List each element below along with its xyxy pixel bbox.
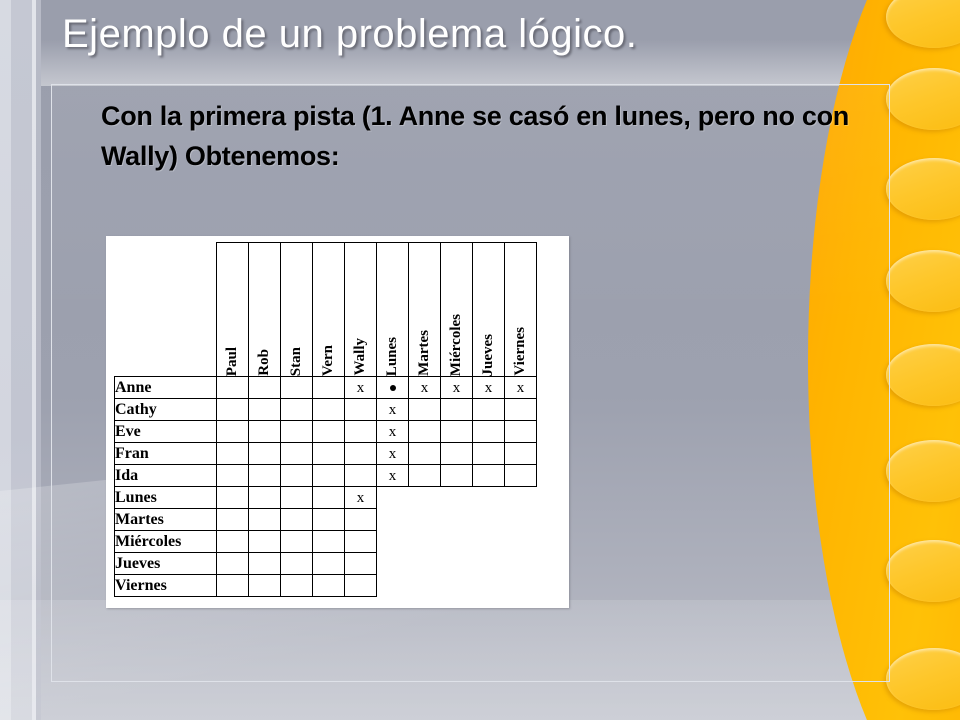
- grid-cell-absent: [473, 509, 505, 531]
- grid-column-header-label: Martes: [409, 327, 440, 376]
- grid-cell[interactable]: [313, 553, 345, 575]
- grid-cell[interactable]: [249, 421, 281, 443]
- grid-cell[interactable]: [281, 487, 313, 509]
- grid-cell[interactable]: [217, 531, 249, 553]
- grid-row: Miércoles: [115, 531, 537, 553]
- grid-cell-absent: [473, 487, 505, 509]
- grid-cell[interactable]: [473, 399, 505, 421]
- grid-cell-absent: [505, 553, 537, 575]
- grid-cell[interactable]: [313, 443, 345, 465]
- grid-column-header: Lunes: [377, 243, 409, 377]
- slide-body-text: Con la primera pista (1. Anne se casó en…: [101, 96, 871, 176]
- grid-cell[interactable]: [441, 399, 473, 421]
- grid-cell-absent: [505, 509, 537, 531]
- grid-cell-absent: [441, 553, 473, 575]
- grid-cell-absent: [473, 575, 505, 597]
- grid-cell[interactable]: x: [505, 377, 537, 399]
- grid-cell-absent: [441, 487, 473, 509]
- grid-cell[interactable]: [345, 421, 377, 443]
- grid-row-label: Eve: [115, 421, 217, 443]
- grid-cell[interactable]: [313, 509, 345, 531]
- grid-column-header: Martes: [409, 243, 441, 377]
- grid-row-label: Cathy: [115, 399, 217, 421]
- grid-column-header: Wally: [345, 243, 377, 377]
- grid-cell-absent: [505, 575, 537, 597]
- grid-cell-absent: [505, 487, 537, 509]
- grid-cell[interactable]: x: [377, 443, 409, 465]
- grid-cell-absent: [441, 509, 473, 531]
- grid-cell[interactable]: x: [345, 487, 377, 509]
- grid-cell[interactable]: [249, 553, 281, 575]
- grid-cell[interactable]: [313, 421, 345, 443]
- grid-cell[interactable]: [409, 421, 441, 443]
- grid-column-header-label: Lunes: [377, 334, 408, 376]
- grid-column-header-label: Rob: [249, 346, 280, 376]
- grid-row: Jueves: [115, 553, 537, 575]
- grid-cell[interactable]: [377, 377, 409, 399]
- grid-row-label: Fran: [115, 443, 217, 465]
- grid-cell[interactable]: x: [377, 465, 409, 487]
- grid-cell-absent: [409, 487, 441, 509]
- grid-row: Franx: [115, 443, 537, 465]
- grid-cell[interactable]: [217, 487, 249, 509]
- grid-cell[interactable]: [313, 465, 345, 487]
- grid-column-header: Miércoles: [441, 243, 473, 377]
- grid-cell[interactable]: [281, 421, 313, 443]
- slide-canvas: Ejemplo de un problema lógico. Con la pr…: [0, 0, 960, 720]
- left-band-1: [0, 0, 11, 720]
- grid-cell[interactable]: [313, 531, 345, 553]
- grid-column-header-label: Viernes: [505, 324, 536, 376]
- grid-cell[interactable]: [505, 465, 537, 487]
- grid-cell[interactable]: x: [409, 377, 441, 399]
- grid-cell[interactable]: [313, 377, 345, 399]
- grid-cell[interactable]: [345, 531, 377, 553]
- grid-cell[interactable]: [217, 575, 249, 597]
- content-frame: Con la primera pista (1. Anne se casó en…: [51, 84, 890, 682]
- grid-cell[interactable]: [345, 553, 377, 575]
- grid-cell-absent: [377, 553, 409, 575]
- grid-row: Evex: [115, 421, 537, 443]
- grid-cell-absent: [409, 509, 441, 531]
- grid-column-header-label: Jueves: [473, 331, 504, 377]
- left-band-4: [36, 0, 41, 720]
- grid-cell-absent: [473, 553, 505, 575]
- grid-cell[interactable]: [345, 399, 377, 421]
- grid-row: Cathyx: [115, 399, 537, 421]
- logic-grid-table: PaulRobStanVernWallyLunesMartesMiércoles…: [114, 242, 537, 597]
- grid-cell[interactable]: [505, 421, 537, 443]
- grid-cell[interactable]: x: [473, 377, 505, 399]
- grid-column-header: Viernes: [505, 243, 537, 377]
- grid-cell[interactable]: [441, 465, 473, 487]
- grid-cell[interactable]: [217, 553, 249, 575]
- grid-cell[interactable]: x: [441, 377, 473, 399]
- grid-cell[interactable]: [249, 377, 281, 399]
- grid-cell[interactable]: [409, 465, 441, 487]
- grid-column-header-label: Wally: [345, 335, 376, 376]
- grid-row: Annexxxxx: [115, 377, 537, 399]
- grid-corner-cell: [115, 243, 217, 377]
- grid-cell[interactable]: [313, 487, 345, 509]
- grid-column-header-label: Paul: [217, 344, 248, 376]
- grid-cell[interactable]: [313, 575, 345, 597]
- grid-cell-absent: [441, 531, 473, 553]
- grid-cell-absent: [441, 575, 473, 597]
- grid-row: Martes: [115, 509, 537, 531]
- grid-cell[interactable]: [409, 443, 441, 465]
- grid-cell[interactable]: [281, 377, 313, 399]
- grid-cell[interactable]: [345, 443, 377, 465]
- grid-cell[interactable]: [249, 531, 281, 553]
- grid-cell[interactable]: [217, 399, 249, 421]
- grid-cell[interactable]: [345, 465, 377, 487]
- left-band-2: [11, 0, 32, 720]
- grid-column-header-label: Miércoles: [441, 311, 472, 376]
- grid-column-header: Stan: [281, 243, 313, 377]
- grid-cell[interactable]: [281, 465, 313, 487]
- grid-cell-absent: [409, 553, 441, 575]
- grid-cell[interactable]: [281, 399, 313, 421]
- grid-column-header: Paul: [217, 243, 249, 377]
- grid-cell-absent: [377, 531, 409, 553]
- grid-cell[interactable]: x: [377, 421, 409, 443]
- grid-cell[interactable]: [281, 553, 313, 575]
- grid-cell[interactable]: [345, 509, 377, 531]
- grid-column-header: Vern: [313, 243, 345, 377]
- grid-cell[interactable]: [249, 575, 281, 597]
- grid-cell[interactable]: [409, 399, 441, 421]
- grid-cell[interactable]: [505, 443, 537, 465]
- grid-cell[interactable]: [249, 443, 281, 465]
- grid-cell-absent: [473, 531, 505, 553]
- grid-row-label: Lunes: [115, 487, 217, 509]
- grid-cell[interactable]: [281, 443, 313, 465]
- grid-row-label: Anne: [115, 377, 217, 399]
- grid-cell[interactable]: [313, 399, 345, 421]
- grid-cell-absent: [505, 531, 537, 553]
- grid-cell[interactable]: x: [377, 399, 409, 421]
- grid-cell[interactable]: [281, 531, 313, 553]
- grid-cell[interactable]: [505, 399, 537, 421]
- grid-row-label: Viernes: [115, 575, 217, 597]
- grid-cell-absent: [377, 509, 409, 531]
- grid-cell[interactable]: [473, 421, 505, 443]
- grid-cell-absent: [409, 531, 441, 553]
- grid-column-header-label: Stan: [281, 344, 312, 376]
- grid-cell[interactable]: [345, 575, 377, 597]
- grid-row-label: Jueves: [115, 553, 217, 575]
- grid-mark-dot-icon: [390, 385, 396, 391]
- grid-cell-absent: [377, 575, 409, 597]
- grid-row: Viernes: [115, 575, 537, 597]
- grid-cell[interactable]: [249, 487, 281, 509]
- grid-column-header: Jueves: [473, 243, 505, 377]
- grid-cell[interactable]: [217, 509, 249, 531]
- grid-row-label: Miércoles: [115, 531, 217, 553]
- grid-cell[interactable]: [473, 443, 505, 465]
- grid-cell[interactable]: [281, 575, 313, 597]
- grid-cell[interactable]: [249, 509, 281, 531]
- grid-cell[interactable]: [281, 509, 313, 531]
- grid-column-header-label: Vern: [313, 342, 344, 376]
- grid-cell[interactable]: [217, 443, 249, 465]
- grid-header-row: PaulRobStanVernWallyLunesMartesMiércoles…: [115, 243, 537, 377]
- grid-row: Lunesx: [115, 487, 537, 509]
- grid-cell[interactable]: [473, 465, 505, 487]
- grid-cell-absent: [377, 487, 409, 509]
- slide-title: Ejemplo de un problema lógico.: [62, 8, 862, 64]
- grid-cell[interactable]: x: [345, 377, 377, 399]
- grid-cell[interactable]: [217, 465, 249, 487]
- grid-cell[interactable]: [217, 421, 249, 443]
- logic-grid-panel: PaulRobStanVernWallyLunesMartesMiércoles…: [106, 236, 569, 608]
- grid-row-label: Ida: [115, 465, 217, 487]
- grid-cell[interactable]: [249, 399, 281, 421]
- grid-cell[interactable]: [441, 443, 473, 465]
- grid-column-header: Rob: [249, 243, 281, 377]
- grid-cell[interactable]: [441, 421, 473, 443]
- grid-cell-absent: [409, 575, 441, 597]
- grid-row-label: Martes: [115, 509, 217, 531]
- grid-cell[interactable]: [217, 377, 249, 399]
- grid-row: Idax: [115, 465, 537, 487]
- grid-cell[interactable]: [249, 465, 281, 487]
